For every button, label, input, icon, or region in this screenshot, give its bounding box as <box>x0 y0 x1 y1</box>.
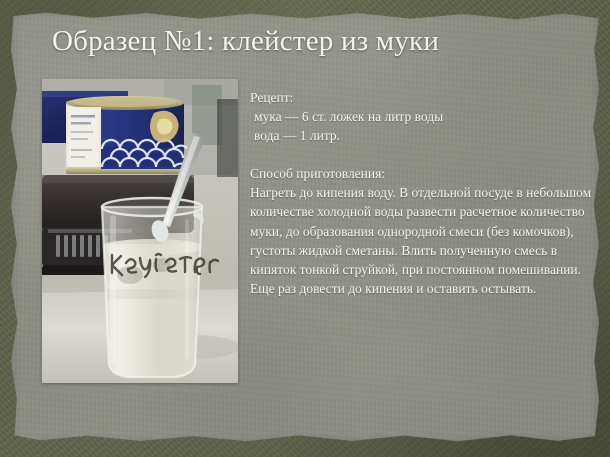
method-heading: Способ приготовления: <box>250 164 592 183</box>
photo-artwork <box>42 79 238 383</box>
recipe-text-column: Рецепт: мука — 6 ст. ложек на литр воды … <box>250 88 592 298</box>
recipe-ingredient-flour: мука — 6 ст. ложек на литр воды <box>250 107 592 126</box>
section-spacer <box>250 145 592 164</box>
recipe-ingredient-water: вода — 1 литр. <box>250 126 592 145</box>
method-block: Способ приготовления: Нагреть до кипения… <box>250 164 592 298</box>
recipe-heading: Рецепт: <box>250 88 592 107</box>
slide-title: Образец №1: клейстер из муки <box>52 22 572 60</box>
photo-glass-of-flour-paste <box>42 79 238 383</box>
recipe-block: Рецепт: мука — 6 ст. ложек на литр воды … <box>250 88 592 145</box>
method-text: Нагреть до кипения воду. В отдельной пос… <box>250 183 592 298</box>
slide: Образец №1: клейстер из муки <box>0 0 610 457</box>
